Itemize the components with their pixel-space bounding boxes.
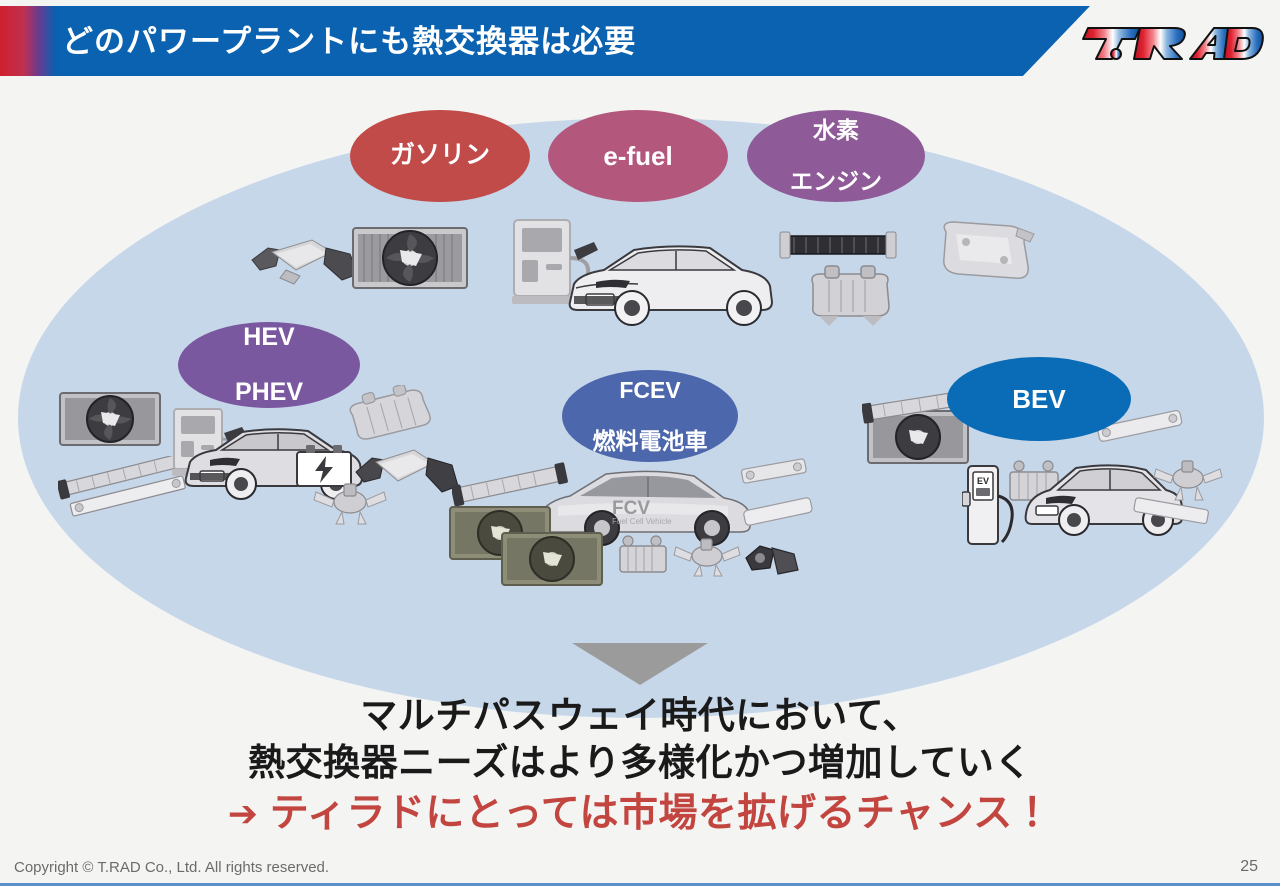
summary-line-1: マルチパスウェイ時代において、	[0, 692, 1280, 739]
right-arrow-icon: ➔	[228, 793, 259, 834]
intercooler-assembly-image	[246, 230, 366, 290]
fcev-oil-cooler-image	[612, 534, 674, 580]
category-hev-phev[interactable]: HEV PHEV	[178, 322, 360, 408]
category-fcev-line1: FCEV	[593, 378, 708, 403]
page-title: どのパワープラントにも熱交換器は必要	[62, 16, 636, 68]
category-efuel[interactable]: e-fuel	[548, 110, 728, 202]
category-gasoline-label: ガソリン	[390, 142, 490, 170]
trad-logo	[1078, 14, 1268, 70]
gasoline-sedan-image	[560, 236, 780, 328]
category-fcev-line2: 燃料電池車	[593, 429, 708, 454]
slide-root: どのパワープラントにも熱交換器は必要	[0, 0, 1280, 886]
slide-header: どのパワープラントにも熱交換器は必要	[0, 0, 1280, 82]
category-hydrogen-engine[interactable]: 水素 エンジン	[747, 110, 925, 202]
ev-charger-label: EV	[977, 476, 989, 486]
fcv-badge-sub: Fuel Cell Vehicle	[612, 517, 672, 526]
summary-highlight: ➔ ティラドにとっては市場を拡げるチャンス！	[0, 789, 1280, 840]
category-efuel-label: e-fuel	[603, 142, 672, 171]
category-fcev-label: FCEV 燃料電池車	[593, 353, 708, 479]
header-accent-gradient	[0, 6, 62, 76]
fcv-badge-main: FCV	[612, 498, 650, 519]
bev-flat-plate-2-image	[1128, 490, 1218, 534]
category-bev[interactable]: BEV	[947, 357, 1131, 441]
category-hydrogen-line1: 水素	[790, 118, 882, 143]
fcev-valve-1-image	[672, 532, 742, 578]
category-hev-line1: HEV	[235, 324, 303, 352]
summary-line-2: 熱交換器ニーズはより多様化かつ増加していく	[0, 739, 1280, 786]
summary-highlight-text: ティラドにとっては市場を拡げるチャンス！	[270, 792, 1053, 835]
fcev-flat-plate-image	[736, 450, 812, 494]
thermostat-valve-image	[312, 476, 388, 526]
category-hev-line2: PHEV	[235, 379, 303, 407]
page-number: 25	[1240, 858, 1258, 876]
fcev-flat-plate-2-image	[738, 490, 818, 534]
category-hev-label: HEV PHEV	[235, 296, 303, 434]
egr-cooler-image	[795, 264, 905, 328]
hydrogen-manifold-image	[930, 216, 1038, 288]
fcev-radiator-green-2-image	[500, 528, 604, 590]
exhaust-heat-recovery-image	[340, 385, 440, 445]
fcev-valve-2-image	[734, 534, 804, 580]
category-hydrogen-label: 水素 エンジン	[790, 93, 882, 219]
down-arrow-icon	[572, 639, 708, 685]
category-fcev[interactable]: FCEV 燃料電池車	[562, 370, 738, 462]
radiator-fan-module-image	[350, 222, 470, 294]
category-bev-label: BEV	[1012, 385, 1065, 414]
summary-message: マルチパスウェイ時代において、 熱交換器ニーズはより多様化かつ増加していく ➔ …	[0, 692, 1280, 839]
radiator-fan-module-left-image	[58, 388, 162, 452]
copyright-text: Copyright © T.RAD Co., Ltd. All rights r…	[14, 859, 329, 876]
category-hydrogen-line2: エンジン	[790, 169, 882, 194]
category-gasoline[interactable]: ガソリン	[350, 110, 530, 202]
